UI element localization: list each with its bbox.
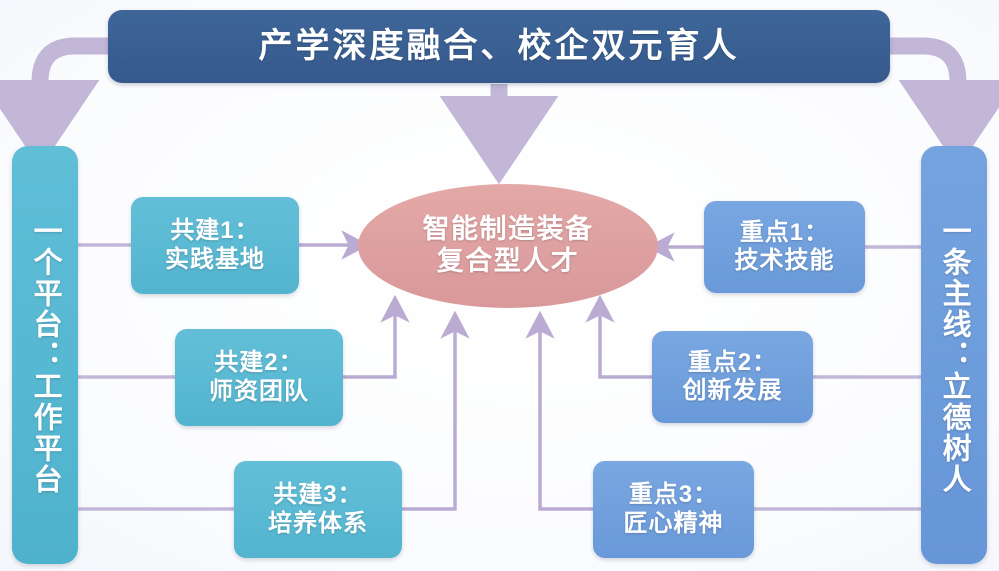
arrow-item-r2-to-center xyxy=(600,300,652,377)
right-item-1: 重点1： 技术技能 xyxy=(704,201,865,293)
right-item-1-line-2: 技术技能 xyxy=(735,247,835,275)
right-item-2-line-1: 重点2： xyxy=(683,349,783,377)
left-item-1-line-1: 共建1： xyxy=(165,217,265,245)
left-item-2-line-2: 师资团队 xyxy=(209,378,309,406)
left-item-2-line-1: 共建2： xyxy=(209,349,309,377)
diagram-canvas: 产学深度融合、校企双元育人 一个平台：工作平台 一条主线：立德树人 智能制造装备… xyxy=(0,0,999,571)
arrow-title-to-right-pillar xyxy=(890,46,958,124)
right-item-2: 重点2： 创新发展 xyxy=(652,331,813,423)
right-item-3-line-2: 匠心精神 xyxy=(624,510,724,538)
pillar-right-mainline: 一条主线：立德树人 xyxy=(921,146,987,564)
arrow-title-to-left-pillar xyxy=(40,46,108,124)
pillar-left-label: 一个平台：工作平台 xyxy=(28,216,62,495)
center-goal-line-2: 复合型人才 xyxy=(423,246,594,278)
left-item-2: 共建2： 师资团队 xyxy=(175,329,343,426)
left-item-3: 共建3： 培养体系 xyxy=(234,461,402,558)
diagram-title-text: 产学深度融合、校企双元育人 xyxy=(259,26,740,66)
right-item-3-line-1: 重点3： xyxy=(624,481,724,509)
left-item-3-line-1: 共建3： xyxy=(268,481,368,509)
left-item-1-line-2: 实践基地 xyxy=(165,246,265,274)
right-item-2-line-2: 创新发展 xyxy=(683,377,783,405)
pillar-left-platform: 一个平台：工作平台 xyxy=(12,146,78,564)
arrow-item-r3-to-center xyxy=(540,316,593,509)
left-item-3-line-2: 培养体系 xyxy=(268,510,368,538)
diagram-title: 产学深度融合、校企双元育人 xyxy=(108,10,890,83)
arrow-item-l3-to-center xyxy=(402,316,455,509)
left-item-1: 共建1： 实践基地 xyxy=(131,197,299,294)
pillar-right-label: 一条主线：立德树人 xyxy=(937,216,971,495)
center-goal-line-1: 智能制造装备 xyxy=(423,214,594,246)
right-item-3: 重点3： 匠心精神 xyxy=(593,461,754,558)
center-goal-node: 智能制造装备 复合型人才 xyxy=(358,184,658,308)
right-item-1-line-1: 重点1： xyxy=(735,219,835,247)
arrow-item-l2-to-center xyxy=(343,300,395,377)
